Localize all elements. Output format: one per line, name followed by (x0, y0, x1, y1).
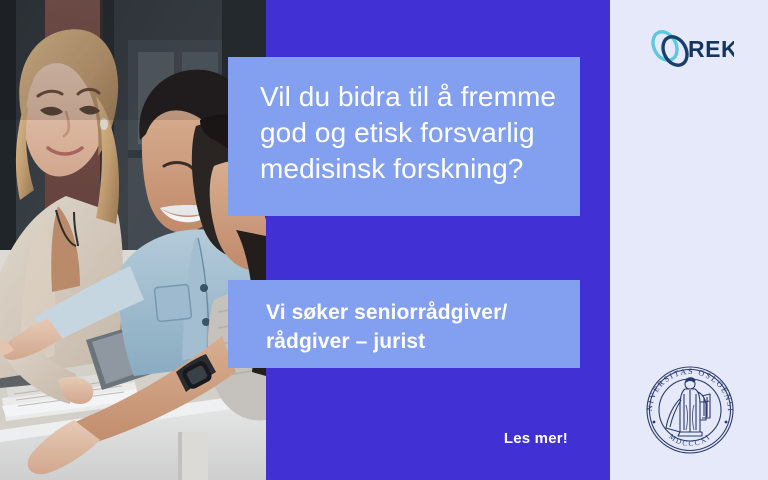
team-photo (0, 0, 266, 480)
read-more-link[interactable]: Les mer! (440, 430, 568, 447)
subheadline-box: Vi søker seniorrådgiver/ rådgiver – juri… (228, 280, 580, 368)
headline-line-2: god og etisk forsvarlig (260, 115, 552, 151)
headline-box: Vil du bidra til å fremme god og etisk f… (228, 57, 580, 216)
headline-line-3: medisinsk forskning? (260, 151, 552, 187)
headline-line-1: Vil du bidra til å fremme (260, 79, 552, 115)
svg-text:REK: REK (688, 36, 734, 62)
subheadline-line-2: rådgiver – jurist (266, 327, 558, 356)
subheadline-line-1: Vi søker seniorrådgiver/ (266, 298, 558, 327)
rek-logo[interactable]: REK (648, 26, 734, 72)
recruitment-banner: Vil du bidra til å fremme god og etisk f… (0, 0, 768, 480)
rek-rings-icon (648, 28, 692, 70)
uio-seal: UNIVERSITAS OSLOENSIS MDCCCXI (640, 360, 740, 460)
seal-year-text: MDCCCXI (667, 432, 712, 448)
